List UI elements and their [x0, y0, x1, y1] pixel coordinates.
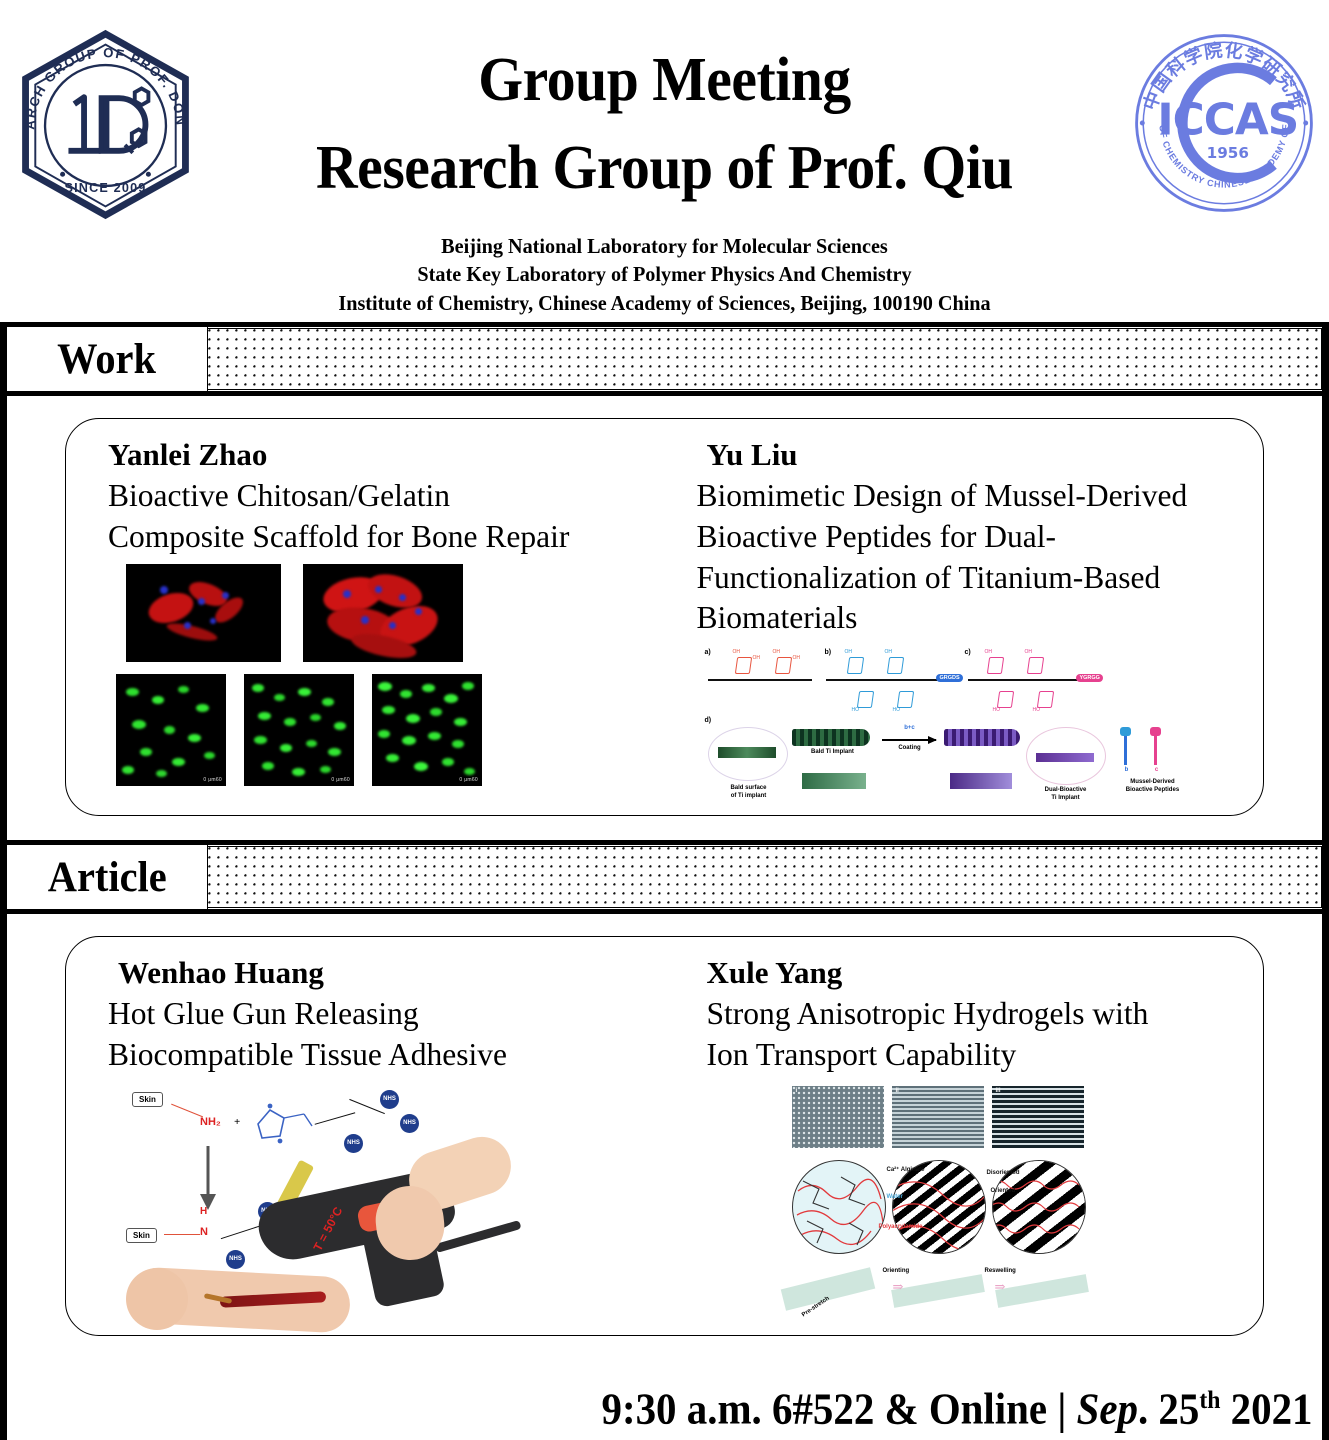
ho-label-c2: HO: [1032, 707, 1040, 713]
coating-label: Coating: [880, 745, 938, 753]
entry-title-xule-yang: Strong Anisotropic Hydrogels with Ion Tr…: [696, 994, 1247, 1076]
iccas-acronym: ICCAS: [1157, 94, 1298, 145]
nhs-badge-3: NHS: [344, 1134, 363, 1153]
peptide-icon-c: [1154, 731, 1157, 765]
peptide-tag-grgds: GRGDS: [936, 674, 962, 682]
subtitle-line-3: Institute of Chemistry, Chinese Academy …: [40, 289, 1289, 317]
ho-label-b1: HO: [851, 707, 859, 713]
label-reswelling: Reswelling: [984, 1268, 1015, 1274]
entry-name-yanlei-zhao: Yanlei Zhao: [108, 435, 660, 475]
badge-since-text: SINCE 2009: [64, 181, 146, 195]
title-line-1: Group Meeting: [233, 36, 1097, 124]
badge-arc-text: RESEARCH GROUP OF PROF. DONG QIU: [8, 28, 189, 130]
oh-label-c2: OH: [1024, 649, 1032, 655]
footer-time-location: 9:30 a.m. 6#522 & Online: [601, 1384, 1047, 1433]
panel-label-a: a): [704, 649, 710, 656]
entry-name-xule-yang: Xule Yang: [696, 953, 1247, 993]
label-alginate: Ca²⁺ Alginate: [886, 1166, 924, 1173]
caption-bald-implant: Bald Ti Implant: [792, 749, 872, 757]
entry-title-yu-liu: Biomimetic Design of Mussel-Derived Bioa…: [696, 476, 1247, 640]
entry-yanlei-zhao: Yanlei Zhao Bioactive Chitosan/Gelatin C…: [66, 419, 670, 815]
h-label: H: [200, 1206, 207, 1217]
nhs-badge-2: NHS: [400, 1114, 419, 1133]
peptide-icon-b: [1124, 731, 1127, 765]
sem-panel-label-1: i: [795, 1088, 797, 1094]
work-card: Yanlei Zhao Bioactive Chitosan/Gelatin C…: [65, 418, 1264, 816]
gel-strip-1: [781, 1267, 876, 1311]
arrow-orienting-icon: ⇒: [892, 1280, 903, 1293]
plus-sign: +: [234, 1116, 240, 1128]
nhs-badge-6: NHS: [226, 1250, 245, 1269]
entry-xule-yang: Xule Yang Strong Anisotropic Hydrogels w…: [670, 937, 1263, 1335]
figure-peptide-titanium-scheme: a) b) c) d) OH OH OH OH: [696, 645, 1247, 805]
entry-wenhao-huang: Wenhao Huang Hot Glue Gun Releasing Bioc…: [66, 937, 670, 1335]
nhs-badge-1: NHS: [380, 1090, 399, 1109]
section-label-article: Article: [48, 856, 167, 899]
bald-ti-surface: [718, 747, 776, 758]
label-oriented: Oriented: [990, 1188, 1015, 1194]
footer-meeting-details: 9:30 a.m. 6#522 & Online | Sep. 25th 202…: [601, 1387, 1312, 1432]
entry-name-yu-liu: Yu Liu: [696, 435, 1247, 475]
skin-label-top: Skin: [132, 1092, 163, 1107]
skin-label-bottom: Skin: [126, 1228, 157, 1243]
section-band-article: Article: [7, 840, 1322, 914]
bald-ti-implant-screw: [792, 729, 870, 746]
institution-subtitle: Beijing National Laboratory for Molecula…: [0, 232, 1329, 317]
entry-title-wenhao-huang: Hot Glue Gun Releasing Biocompatible Tis…: [108, 994, 660, 1076]
oh-label-b1: OH: [844, 649, 852, 655]
zoom-circle-1: [792, 1160, 886, 1254]
ti-oxide-layer: [802, 773, 866, 789]
footer-separator: |: [1047, 1384, 1076, 1433]
dual-bioactive-layer: [1036, 753, 1094, 762]
poster-footer: 9:30 a.m. 6#522 & Online | Sep. 25th 202…: [7, 1378, 1322, 1440]
research-group-badge-logo: RESEARCH GROUP OF PROF. DONG QIU SINCE 2…: [8, 28, 203, 223]
nh2-label: NH₂: [200, 1116, 221, 1128]
footer-month: Sep: [1076, 1384, 1137, 1433]
fist: [126, 1268, 188, 1330]
subtitle-line-1: Beijing National Laboratory for Molecula…: [40, 232, 1289, 260]
section-label-work: Work: [58, 338, 157, 381]
poster-body: Work Yanlei Zhao Bioactive Chitosan/Gela…: [0, 322, 1329, 1440]
caption-mussel-peptides: Mussel-Derived Bioactive Peptides: [1100, 779, 1204, 794]
scale-bar-label-2: 0 μm60: [331, 777, 350, 783]
figure-fluorescence-micrographs: 0 μm60: [108, 564, 660, 805]
article-card-wrapper: Wenhao Huang Hot Glue Gun Releasing Bioc…: [7, 914, 1322, 1360]
iccas-year: 1956: [1207, 144, 1249, 162]
oh-label-a4: OH: [792, 655, 800, 661]
section-label-work-cell: Work: [7, 327, 208, 391]
panel-label-d: d): [704, 717, 711, 724]
gel-strip-3: [996, 1274, 1090, 1308]
micrograph-green-3: 0 μm60: [372, 674, 482, 786]
entry-title-yanlei-zhao: Bioactive Chitosan/Gelatin Composite Sca…: [108, 476, 660, 558]
oh-label-c1: OH: [984, 649, 992, 655]
peptide-letter-c: c: [1146, 767, 1166, 775]
iccas-logo: 中国科学院化学研究所 INSTITUTE OF CHEMISTRY CHINES…: [1129, 28, 1319, 218]
svg-text:RESEARCH GROUP OF PROF. DONG Q: RESEARCH GROUP OF PROF. DONG QIU: [8, 28, 189, 130]
micrograph-red-2: [303, 564, 463, 662]
section-band-work: Work: [7, 322, 1322, 396]
entry-yu-liu: Yu Liu Biomimetic Design of Mussel-Deriv…: [670, 419, 1263, 815]
sem-image-1: i: [792, 1086, 884, 1148]
subtitle-line-2: State Key Laboratory of Polymer Physics …: [40, 260, 1289, 288]
peptide-tag-ygrgg: YGRGG: [1076, 674, 1102, 682]
section-band-pattern-work: [208, 328, 1322, 390]
section-band-pattern-article: [208, 846, 1322, 908]
section-label-article-cell: Article: [7, 845, 208, 909]
arrow-reswelling-icon: ⇒: [994, 1280, 1005, 1293]
entry-name-wenhao-huang: Wenhao Huang: [108, 953, 660, 993]
label-polyacrylamide: Polyacrylamide: [878, 1224, 922, 1230]
figure-anisotropic-hydrogel-scheme: i ii iii: [696, 1082, 1247, 1325]
sem-image-3: iii: [992, 1086, 1084, 1148]
panel-label-b: b): [824, 649, 831, 656]
footer-year: 2021: [1220, 1384, 1312, 1433]
oh-label-a3: OH: [772, 649, 780, 655]
panel-label-c: c): [964, 649, 970, 656]
gel-strip-2: [892, 1274, 986, 1308]
coated-oxide-layer: [950, 773, 1012, 789]
n-label: N: [200, 1226, 208, 1238]
zoom-circle-2: [892, 1160, 986, 1254]
work-card-wrapper: Yanlei Zhao Bioactive Chitosan/Gelatin C…: [7, 396, 1322, 840]
ho-label-c1: HO: [992, 707, 1000, 713]
label-disoriented: Disoriented: [986, 1170, 1019, 1176]
oh-label-a1: OH: [732, 649, 740, 655]
label-orienting: Orienting: [882, 1268, 909, 1274]
footer-day: 25: [1158, 1384, 1199, 1433]
oh-label-a2: OH: [752, 655, 760, 661]
scale-bar-label-1: 0 μm60: [203, 777, 222, 783]
figure-hot-glue-gun-scheme: Skin NH₂ + NHS: [108, 1082, 660, 1325]
sem-panel-label-3: iii: [995, 1088, 1000, 1094]
oh-label-b2: OH: [884, 649, 892, 655]
footer-space: [1148, 1384, 1158, 1433]
caption-bald-surface: Bald surface of Ti implant: [704, 785, 792, 800]
coated-ti-implant-screw: [944, 729, 1020, 746]
ho-label-b2: HO: [892, 707, 900, 713]
micrograph-green-2: 0 μm60: [244, 674, 354, 786]
peptide-letter-b: b: [1116, 767, 1136, 775]
reaction-label: b+c: [882, 725, 936, 733]
sem-image-2: ii: [892, 1086, 984, 1148]
sem-panel-label-2: ii: [895, 1088, 898, 1094]
footer-ordinal: th: [1199, 1385, 1220, 1414]
micrograph-green-1: 0 μm60: [116, 674, 226, 786]
poster-header: RESEARCH GROUP OF PROF. DONG QIU SINCE 2…: [0, 0, 1329, 322]
poster-title: Group Meeting Research Group of Prof. Qi…: [200, 36, 1129, 212]
title-line-2: Research Group of Prof. Qiu: [233, 124, 1097, 212]
coating-arrow: [882, 739, 936, 741]
caption-dual-bioactive: Dual-Bioactive Ti Implant: [1022, 787, 1108, 802]
label-water: Water: [886, 1194, 902, 1200]
article-card: Wenhao Huang Hot Glue Gun Releasing Bioc…: [65, 936, 1264, 1336]
scale-bar-label-3: 0 μm60: [459, 777, 478, 783]
footer-month-period: .: [1137, 1384, 1147, 1433]
micrograph-red-1: [126, 564, 281, 662]
